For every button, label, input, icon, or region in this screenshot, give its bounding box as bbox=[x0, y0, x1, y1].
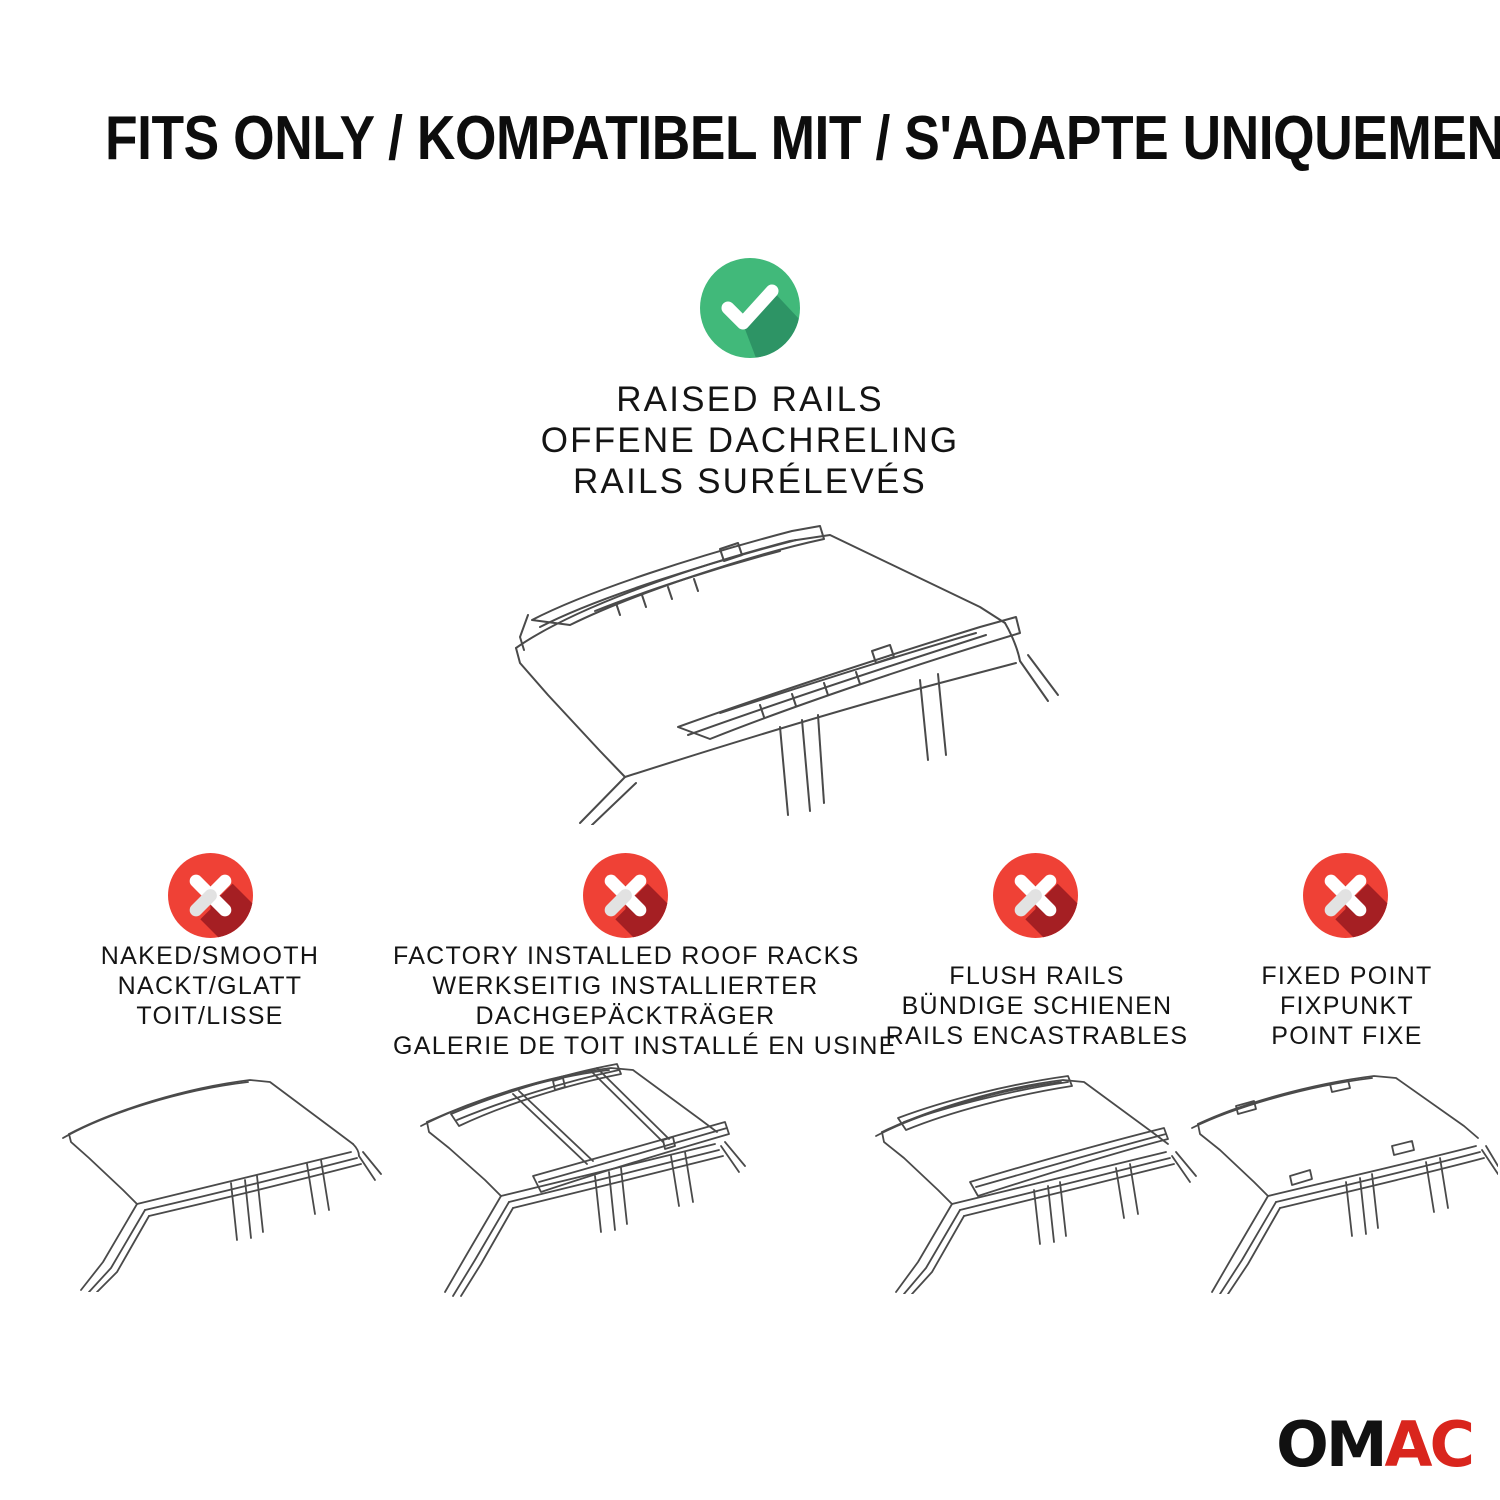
incompatible-label-0-line-2: NACKT/GLATT bbox=[35, 971, 385, 1001]
incompatible-label-2-line-3: RAILS ENCASTRABLES bbox=[866, 1021, 1208, 1051]
incompatible-label-block-0: NAKED/SMOOTH NACKT/GLATT TOIT/LISSE bbox=[35, 941, 385, 1031]
car-roof-raised-rails-illustration bbox=[420, 515, 1080, 825]
incompatible-label-1-line-3: DACHGEPÄCKTRÄGER bbox=[393, 1001, 858, 1031]
incompatible-label-3-line-2: FIXPUNKT bbox=[1222, 991, 1472, 1021]
incompatible-label-1-line-2: WERKSEITIG INSTALLIERTER bbox=[393, 971, 858, 1001]
incompatible-label-block-3: FIXED POINT FIXPUNKT POINT FIXE bbox=[1222, 961, 1472, 1051]
x-circle-icon bbox=[168, 853, 253, 938]
logo-text-om: OM bbox=[1276, 1408, 1384, 1481]
page-title: FITS ONLY / KOMPATIBEL MIT / S'ADAPTE UN… bbox=[105, 104, 1395, 174]
car-roof-factory-rack-illustration bbox=[405, 1052, 780, 1297]
car-roof-naked-smooth-illustration bbox=[45, 1062, 405, 1292]
incompatible-label-block-2: FLUSH RAILS BÜNDIGE SCHIENEN RAILS ENCAS… bbox=[866, 961, 1208, 1051]
compatible-label-block: RAISED RAILS OFFENE DACHRELING RAILS SUR… bbox=[250, 379, 1250, 502]
logo-text-ac: AC bbox=[1385, 1408, 1472, 1481]
x-circle-icon bbox=[1303, 853, 1388, 938]
incompatible-label-1-line-1: FACTORY INSTALLED ROOF RACKS bbox=[393, 941, 858, 971]
x-circle-icon bbox=[993, 853, 1078, 938]
incompatible-label-2-line-1: FLUSH RAILS bbox=[866, 961, 1208, 991]
compatible-label-line-3: RAILS SURÉLEVÉS bbox=[250, 461, 1250, 502]
compatible-label-line-2: OFFENE DACHRELING bbox=[250, 420, 1250, 461]
car-roof-fixed-point-illustration bbox=[1178, 1062, 1498, 1294]
compatible-label-line-1: RAISED RAILS bbox=[250, 379, 1250, 420]
incompatible-label-2-line-2: BÜNDIGE SCHIENEN bbox=[866, 991, 1208, 1021]
incompatible-label-0-line-3: TOIT/LISSE bbox=[35, 1001, 385, 1031]
incompatible-label-block-1: FACTORY INSTALLED ROOF RACKS WERKSEITIG … bbox=[393, 941, 858, 1061]
incompatible-label-0-line-1: NAKED/SMOOTH bbox=[35, 941, 385, 971]
incompatible-label-3-line-3: POINT FIXE bbox=[1222, 1021, 1472, 1051]
x-circle-icon bbox=[583, 853, 668, 938]
car-roof-flush-rails-illustration bbox=[858, 1062, 1223, 1294]
incompatible-label-3-line-1: FIXED POINT bbox=[1222, 961, 1472, 991]
omac-logo: OMAC bbox=[1237, 1410, 1472, 1480]
check-circle-icon bbox=[700, 258, 800, 358]
